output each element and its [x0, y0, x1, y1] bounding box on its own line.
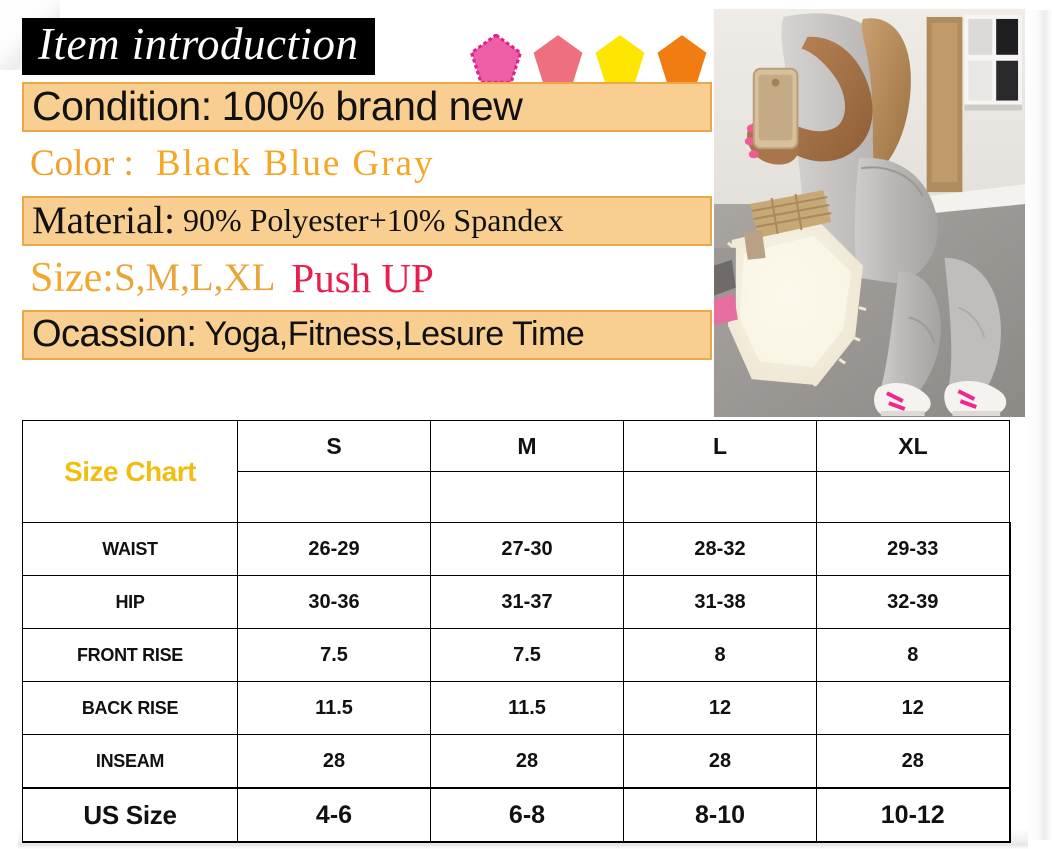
condition-label: Condition: — [32, 83, 212, 130]
size-header-s: S — [238, 421, 431, 472]
unit-header-l: INCH — [624, 472, 817, 523]
cell-us-size-xl: 10-12 — [817, 788, 1010, 842]
size-header-xl: XL — [817, 421, 1010, 472]
cell-hip-m: 31-37 — [431, 576, 624, 629]
cell-us-size-l: 8-10 — [624, 788, 817, 842]
cell-inseam-xl: 28 — [817, 735, 1010, 789]
table-row: WAIST 26-29 27-30 28-32 29-33 — [23, 523, 1010, 576]
table-header-size-row: Size Chart S M L XL — [23, 421, 1010, 472]
item-introduction-panel: Item introduction Condition: 100% brand … — [22, 18, 712, 360]
cell-us-size-s: 4-6 — [238, 788, 431, 842]
push-up-highlight: Push UP — [291, 254, 433, 302]
size-label: Size: — [30, 254, 114, 302]
unit-header-xl: INCH — [817, 472, 1010, 523]
cell-waist-l: 28-32 — [624, 523, 817, 576]
color-value: Black Blue Gray — [156, 142, 435, 185]
size-chart-table-wrapper: Size Chart S M L XL INCH INCH INCH INCH … — [22, 420, 1010, 843]
cell-hip-s: 30-36 — [238, 576, 431, 629]
cell-back-rise-l: 12 — [624, 682, 817, 735]
cell-waist-s: 26-29 — [238, 523, 431, 576]
table-row: INSEAM 28 28 28 28 — [23, 735, 1010, 789]
table-row: BACK RISE 11.5 11.5 12 12 — [23, 682, 1010, 735]
table-row: FRONT RISE 7.5 7.5 8 8 — [23, 629, 1010, 682]
cell-waist-m: 27-30 — [431, 523, 624, 576]
cell-front-rise-l: 8 — [624, 629, 817, 682]
cell-inseam-m: 28 — [431, 735, 624, 789]
cell-back-rise-s: 11.5 — [238, 682, 431, 735]
cell-hip-xl: 32-39 — [817, 576, 1010, 629]
size-header-l: L — [624, 421, 817, 472]
cell-front-rise-m: 7.5 — [431, 629, 624, 682]
product-photo — [713, 8, 1026, 418]
product-photo-illustration — [714, 9, 1025, 417]
row-label-back-rise: BACK RISE — [23, 682, 238, 735]
spec-row-condition: Condition: 100% brand new — [22, 82, 712, 132]
size-header-m: M — [431, 421, 624, 472]
page-title: Item introduction — [22, 18, 375, 75]
cell-front-rise-xl: 8 — [817, 629, 1010, 682]
material-label: Material: — [32, 198, 175, 243]
condition-value: 100% brand new — [222, 83, 523, 130]
cell-hip-l: 31-38 — [624, 576, 817, 629]
product-listing-image: Item introduction Condition: 100% brand … — [0, 0, 1052, 849]
spec-row-material: Material: 90% Polyester+10% Spandex — [22, 196, 712, 246]
cell-back-rise-xl: 12 — [817, 682, 1010, 735]
spec-row-size: Size: S,M,L,XL Push UP — [22, 253, 712, 303]
row-label-front-rise: FRONT RISE — [23, 629, 238, 682]
table-row: HIP 30-36 31-37 31-38 32-39 — [23, 576, 1010, 629]
size-chart-brand-cell: Size Chart — [23, 421, 238, 523]
occasion-value: Yoga,Fitness,Lesure Time — [204, 315, 584, 354]
spec-row-occasion: Ocassion: Yoga,Fitness,Lesure Time — [22, 310, 712, 360]
occasion-label: Ocassion: — [32, 313, 196, 356]
size-chart-table: Size Chart S M L XL INCH INCH INCH INCH … — [22, 420, 1011, 843]
spec-row-color: Color : Black Blue Gray — [22, 139, 712, 189]
cell-front-rise-s: 7.5 — [238, 629, 431, 682]
size-value: S,M,L,XL — [114, 255, 275, 300]
row-label-inseam: INSEAM — [23, 735, 238, 789]
cell-us-size-m: 6-8 — [431, 788, 624, 842]
table-row: US Size 4-6 6-8 8-10 10-12 — [23, 788, 1010, 842]
cell-inseam-l: 28 — [624, 735, 817, 789]
paper-edge-right — [1026, 10, 1052, 840]
unit-header-s: INCH — [238, 472, 431, 523]
cell-back-rise-m: 11.5 — [431, 682, 624, 735]
unit-header-m: INCH — [431, 472, 624, 523]
material-value: 90% Polyester+10% Spandex — [183, 202, 564, 239]
row-label-hip: HIP — [23, 576, 238, 629]
color-label: Color : — [30, 142, 134, 185]
cell-waist-xl: 29-33 — [817, 523, 1010, 576]
row-label-waist: WAIST — [23, 523, 238, 576]
cell-inseam-s: 28 — [238, 735, 431, 789]
row-label-us-size: US Size — [23, 788, 238, 842]
